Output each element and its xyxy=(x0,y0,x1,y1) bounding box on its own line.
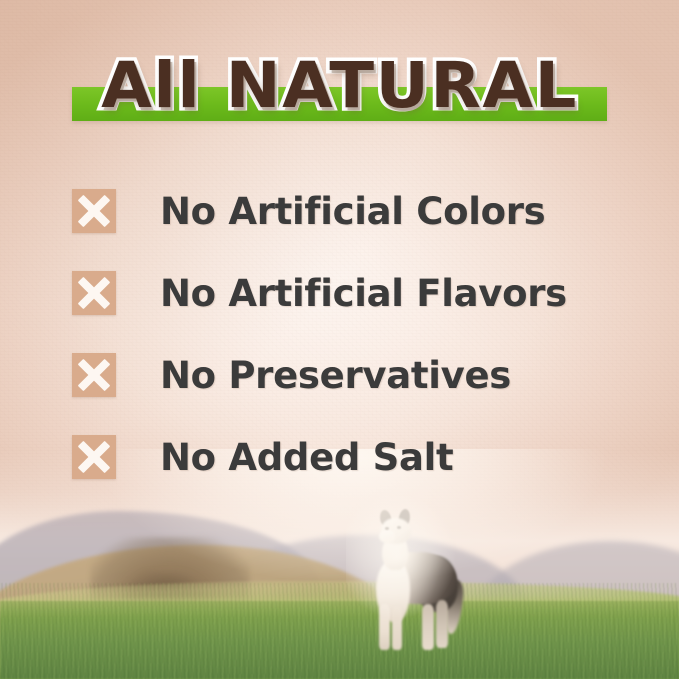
dog-front-left-leg xyxy=(379,604,390,650)
dog-right-eye xyxy=(397,526,401,529)
headline-block: All NATURAL xyxy=(0,48,679,132)
dog-left-eye xyxy=(385,527,389,530)
dog-back-right-leg xyxy=(436,600,448,648)
dog-front-right-leg xyxy=(392,606,402,650)
claims-list: No Artificial Colors No Artificial Flavo… xyxy=(72,170,612,498)
claim-label: No Added Salt xyxy=(160,436,453,479)
product-claims-poster: All NATURAL No Artificial Colors No Arti… xyxy=(0,0,679,679)
claim-label: No Artificial Flavors xyxy=(160,272,567,315)
claim-label: No Artificial Colors xyxy=(160,190,545,233)
dog-photo-subject xyxy=(362,508,474,663)
claim-item-salt: No Added Salt xyxy=(72,416,612,498)
x-mark-icon xyxy=(72,435,116,479)
dog-back-left-leg xyxy=(422,604,434,650)
dog-muzzle xyxy=(379,530,395,543)
x-mark-icon xyxy=(72,271,116,315)
x-mark-icon xyxy=(72,189,116,233)
headline-title: All NATURAL xyxy=(0,48,679,124)
grass-texture xyxy=(0,583,679,679)
claim-item-colors: No Artificial Colors xyxy=(72,170,612,252)
claim-item-flavors: No Artificial Flavors xyxy=(72,252,612,334)
claim-item-preservatives: No Preservatives xyxy=(72,334,612,416)
x-mark-icon xyxy=(72,353,116,397)
claim-label: No Preservatives xyxy=(160,354,511,397)
